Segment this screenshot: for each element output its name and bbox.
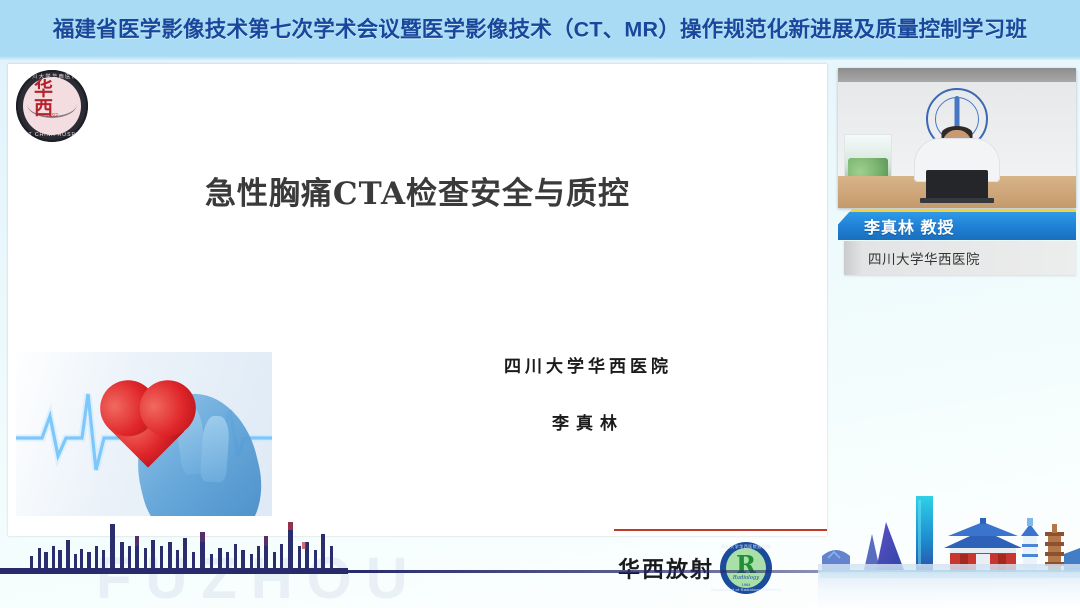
screen-root: 福建省医学影像技术第七次学术会议暨医学影像技术（CT、MR）操作规范化新进展及质… <box>0 0 1080 608</box>
speaker-video-thumbnail[interactable] <box>838 68 1076 208</box>
badge-ring-en-text: Department of Radiology WCHSCU <box>711 587 780 592</box>
seal-ring-cn-text: 四川大学华西医院 <box>26 73 79 80</box>
speaker-name-bar: 李真林 教授 <box>838 209 1076 240</box>
author-name: 李真林 <box>428 409 748 434</box>
speaker-organization: 四川大学华西医院 <box>868 248 980 268</box>
badge-sub-text: Radiology <box>733 575 759 581</box>
speaker-organization-panel: 四川大学华西医院 <box>844 241 1076 275</box>
ground-line-left <box>0 568 348 574</box>
heart-ecg-photo <box>16 352 272 516</box>
conference-header-banner: 福建省医学影像技术第七次学术会议暨医学影像技术（CT、MR）操作规范化新进展及质… <box>0 0 1080 60</box>
seal-mark-text: 华西 <box>34 80 70 118</box>
west-china-hospital-seal-icon: 华西 1892 四川大学华西医院 WEST CHINA HOSPITAL <box>16 70 88 142</box>
radiology-dept-lockup: 华西放射 四川大学华西医院放射科 R Radiology 1964 Depart… <box>618 540 830 596</box>
conference-title: 福建省医学影像技术第七次学术会议暨医学影像技术（CT、MR）操作规范化新进展及质… <box>53 13 1027 44</box>
cityscape-base-glow <box>818 564 1080 608</box>
seal-year-text: 1892 <box>46 113 58 119</box>
presentation-slide[interactable]: 华西 1892 四川大学华西医院 WEST CHINA HOSPITAL 急性胸… <box>8 64 827 536</box>
badge-letter: R <box>736 553 756 577</box>
slide-author-block: 四川大学华西医院 李真林 <box>428 352 748 434</box>
divider-rule <box>614 529 827 531</box>
seal-ring-en-text: WEST CHINA HOSPITAL <box>16 132 88 138</box>
badge-ring-cn-text: 四川大学华西医院放射科 <box>721 544 771 550</box>
speaker-name: 李真林 教授 <box>864 214 954 238</box>
radiology-badge-icon: 四川大学华西医院放射科 R Radiology 1964 Department … <box>720 542 772 594</box>
radiology-dept-name: 华西放射 <box>618 552 714 584</box>
laptop-icon <box>926 170 988 198</box>
author-organization: 四川大学华西医院 <box>428 352 748 377</box>
left-skyline-silhouette <box>0 516 340 570</box>
slide-title: 急性胸痛CTA检查安全与质控 <box>8 168 827 213</box>
